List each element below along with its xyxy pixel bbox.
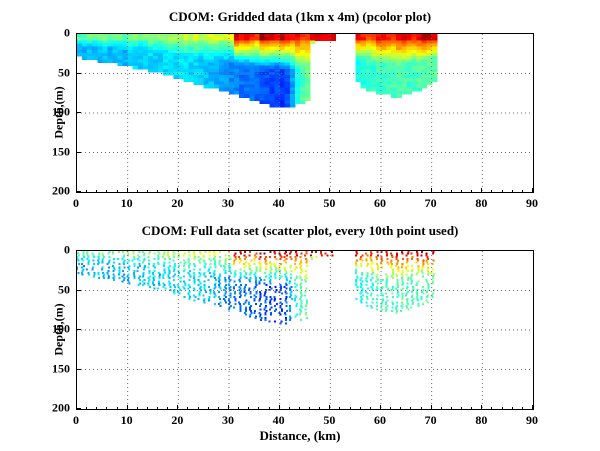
xtick-minor — [502, 190, 503, 193]
panel-top-axes — [76, 33, 534, 193]
xtick-minor — [198, 407, 199, 410]
xtick-minor — [157, 190, 158, 193]
xtick-minor — [106, 407, 107, 410]
xtick-minor — [512, 190, 513, 193]
xtick-minor — [451, 190, 452, 193]
ytick-mark — [76, 152, 81, 153]
xtick-minor — [431, 190, 432, 193]
xtick-minor — [390, 190, 391, 193]
xtick-minor — [319, 190, 320, 193]
xtick-minor — [147, 407, 148, 410]
xtick-minor — [228, 190, 229, 193]
xtick-minor — [96, 407, 97, 410]
xtick-minor — [208, 407, 209, 410]
xtick-minor — [309, 190, 310, 193]
xtick-minor — [339, 407, 340, 410]
xtick-minor — [481, 407, 482, 410]
xtick-label: 0 — [73, 413, 79, 428]
panel-top-title: CDOM: Gridded data (1km x 4m) (pcolor pl… — [0, 10, 600, 24]
panel-bottom-axes — [76, 250, 534, 410]
xtick-minor — [86, 190, 87, 193]
xtick-label: 40 — [273, 196, 285, 211]
xtick-minor — [390, 407, 391, 410]
ytick-label: 50 — [36, 282, 70, 297]
xtick-label: 90 — [526, 196, 538, 211]
xtick-label: 80 — [475, 413, 487, 428]
ytick-mark — [76, 369, 81, 370]
xtick-minor — [238, 190, 239, 193]
xtick-minor — [289, 190, 290, 193]
xtick-minor — [380, 190, 381, 193]
xtick-minor — [127, 407, 128, 410]
xtick-minor — [350, 407, 351, 410]
xtick-label: 20 — [171, 196, 183, 211]
panel-top-plot-area — [77, 34, 533, 192]
xtick-minor — [431, 407, 432, 410]
xtick-label: 10 — [121, 413, 133, 428]
ytick-mark — [76, 329, 81, 330]
xtick-minor — [96, 190, 97, 193]
xtick-minor — [279, 407, 280, 410]
xtick-minor — [127, 190, 128, 193]
xtick-minor — [106, 190, 107, 193]
xtick-minor — [491, 190, 492, 193]
panel-bottom-xlabel: Distance, (km) — [0, 428, 600, 444]
xtick-minor — [167, 407, 168, 410]
xtick-label: 60 — [374, 196, 386, 211]
ytick-mark — [76, 73, 81, 74]
xtick-minor — [370, 407, 371, 410]
panel-bottom-plot-area — [77, 251, 533, 409]
xtick-minor — [512, 407, 513, 410]
ytick-label: 200 — [36, 401, 70, 416]
xtick-minor — [441, 190, 442, 193]
ytick-mark — [76, 250, 81, 251]
xtick-minor — [471, 407, 472, 410]
xtick-minor — [532, 190, 533, 193]
xtick-label: 20 — [171, 413, 183, 428]
ytick-label: 200 — [36, 184, 70, 199]
xtick-minor — [522, 190, 523, 193]
xtick-minor — [76, 407, 77, 410]
panel-bottom-title: CDOM: Full data set (scatter plot, every… — [0, 224, 600, 238]
xtick-minor — [319, 407, 320, 410]
xtick-minor — [269, 190, 270, 193]
ytick-mark — [76, 290, 81, 291]
xtick-minor — [157, 407, 158, 410]
ytick-label: 0 — [36, 26, 70, 41]
xtick-minor — [400, 407, 401, 410]
xtick-minor — [451, 407, 452, 410]
xtick-minor — [350, 190, 351, 193]
xtick-minor — [187, 190, 188, 193]
xtick-minor — [137, 407, 138, 410]
ytick-label: 100 — [36, 322, 70, 337]
xtick-minor — [410, 407, 411, 410]
xtick-minor — [522, 407, 523, 410]
xtick-minor — [400, 190, 401, 193]
xtick-minor — [471, 190, 472, 193]
xtick-minor — [167, 190, 168, 193]
xtick-minor — [218, 407, 219, 410]
xtick-minor — [329, 190, 330, 193]
xtick-label: 50 — [323, 413, 335, 428]
xtick-minor — [208, 190, 209, 193]
figure-canvas: CDOM: Gridded data (1km x 4m) (pcolor pl… — [0, 0, 600, 451]
xtick-minor — [461, 407, 462, 410]
xtick-minor — [461, 190, 462, 193]
xtick-minor — [218, 190, 219, 193]
xtick-minor — [269, 407, 270, 410]
xtick-minor — [117, 190, 118, 193]
xtick-minor — [360, 190, 361, 193]
xtick-minor — [177, 407, 178, 410]
xtick-minor — [410, 190, 411, 193]
xtick-label: 70 — [425, 196, 437, 211]
xtick-minor — [502, 407, 503, 410]
xtick-minor — [370, 190, 371, 193]
xtick-minor — [238, 407, 239, 410]
xtick-minor — [86, 407, 87, 410]
xtick-minor — [481, 190, 482, 193]
xtick-label: 0 — [73, 196, 79, 211]
ytick-mark — [76, 33, 81, 34]
xtick-minor — [258, 407, 259, 410]
xtick-minor — [228, 407, 229, 410]
ytick-label: 0 — [36, 243, 70, 258]
xtick-minor — [532, 407, 533, 410]
xtick-minor — [380, 407, 381, 410]
xtick-minor — [248, 407, 249, 410]
xtick-minor — [309, 407, 310, 410]
xtick-minor — [491, 407, 492, 410]
ytick-label: 150 — [36, 361, 70, 376]
xtick-minor — [198, 190, 199, 193]
ytick-label: 50 — [36, 65, 70, 80]
xtick-minor — [421, 407, 422, 410]
xtick-label: 90 — [526, 413, 538, 428]
panel-bottom-gridlines — [77, 251, 533, 409]
xtick-minor — [441, 407, 442, 410]
xtick-label: 40 — [273, 413, 285, 428]
xtick-minor — [187, 407, 188, 410]
xtick-label: 60 — [374, 413, 386, 428]
xtick-label: 30 — [222, 413, 234, 428]
xtick-minor — [76, 190, 77, 193]
xtick-minor — [258, 190, 259, 193]
xtick-minor — [421, 190, 422, 193]
xtick-minor — [117, 407, 118, 410]
xtick-minor — [289, 407, 290, 410]
xtick-label: 50 — [323, 196, 335, 211]
ytick-label: 150 — [36, 144, 70, 159]
xtick-minor — [137, 190, 138, 193]
ytick-label: 100 — [36, 105, 70, 120]
xtick-label: 10 — [121, 196, 133, 211]
xtick-minor — [360, 407, 361, 410]
panel-top-gridlines — [77, 34, 533, 192]
xtick-label: 70 — [425, 413, 437, 428]
xtick-minor — [299, 190, 300, 193]
xtick-label: 80 — [475, 196, 487, 211]
xtick-minor — [339, 190, 340, 193]
xtick-minor — [299, 407, 300, 410]
xtick-minor — [279, 190, 280, 193]
xtick-minor — [177, 190, 178, 193]
xtick-minor — [147, 190, 148, 193]
xtick-minor — [248, 190, 249, 193]
xtick-minor — [329, 407, 330, 410]
ytick-mark — [76, 112, 81, 113]
xtick-label: 30 — [222, 196, 234, 211]
